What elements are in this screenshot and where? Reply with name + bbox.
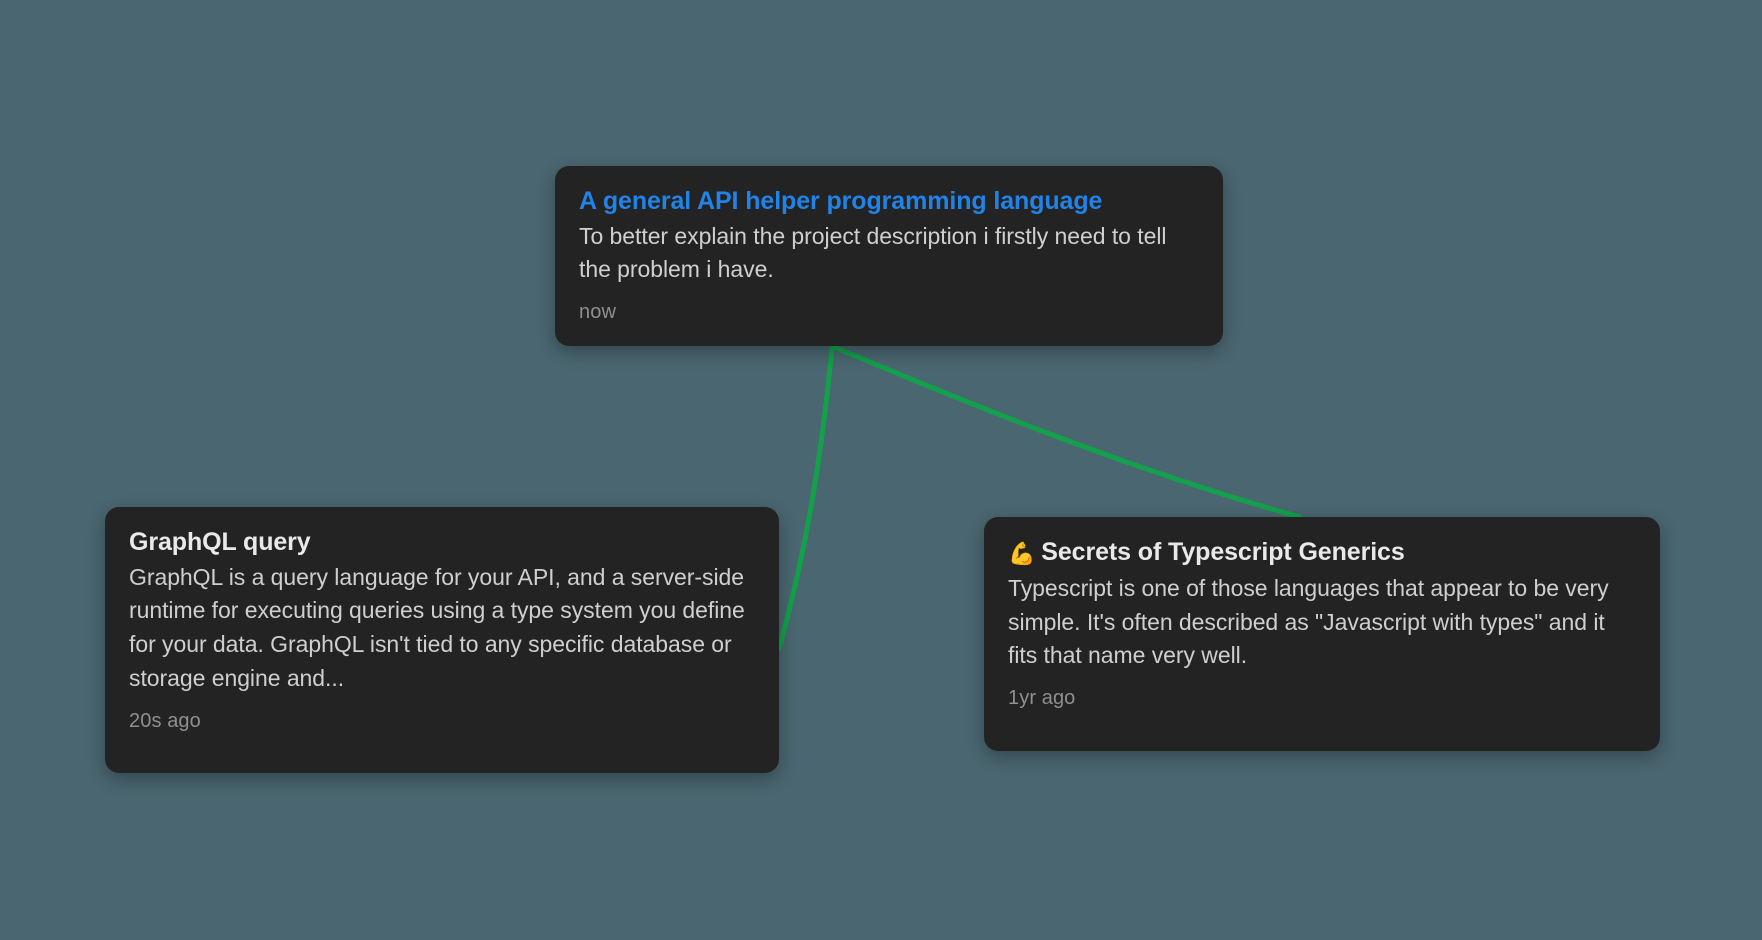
connector-layer: [0, 0, 1762, 940]
node-body-typescript: Typescript is one of those languages tha…: [1008, 572, 1633, 673]
node-timestamp-graphql: 20s ago: [129, 710, 755, 733]
node-card-root[interactable]: A general API helper programming languag…: [555, 166, 1223, 346]
node-title-row-typescript: 💪Secrets of Typescript Generics: [1008, 537, 1636, 569]
node-title-root: A general API helper programming languag…: [579, 186, 1199, 217]
node-body-root: To better explain the project descriptio…: [579, 220, 1179, 288]
node-body-graphql: GraphQL is a query language for your API…: [129, 561, 754, 696]
node-timestamp-typescript: 1yr ago: [1008, 687, 1636, 710]
flexed-biceps-emoji: 💪: [1008, 542, 1035, 567]
node-card-typescript[interactable]: 💪Secrets of Typescript Generics Typescri…: [984, 517, 1660, 751]
mindmap-canvas[interactable]: A general API helper programming languag…: [0, 0, 1762, 940]
connector-root-to-graphql: [779, 348, 832, 648]
node-title-graphql: GraphQL query: [129, 527, 755, 558]
node-title-typescript: Secrets of Typescript Generics: [1041, 538, 1404, 566]
connector-root-to-typescript: [834, 347, 1300, 517]
node-card-graphql[interactable]: GraphQL query GraphQL is a query languag…: [105, 507, 779, 773]
node-timestamp-root: now: [579, 301, 1199, 324]
